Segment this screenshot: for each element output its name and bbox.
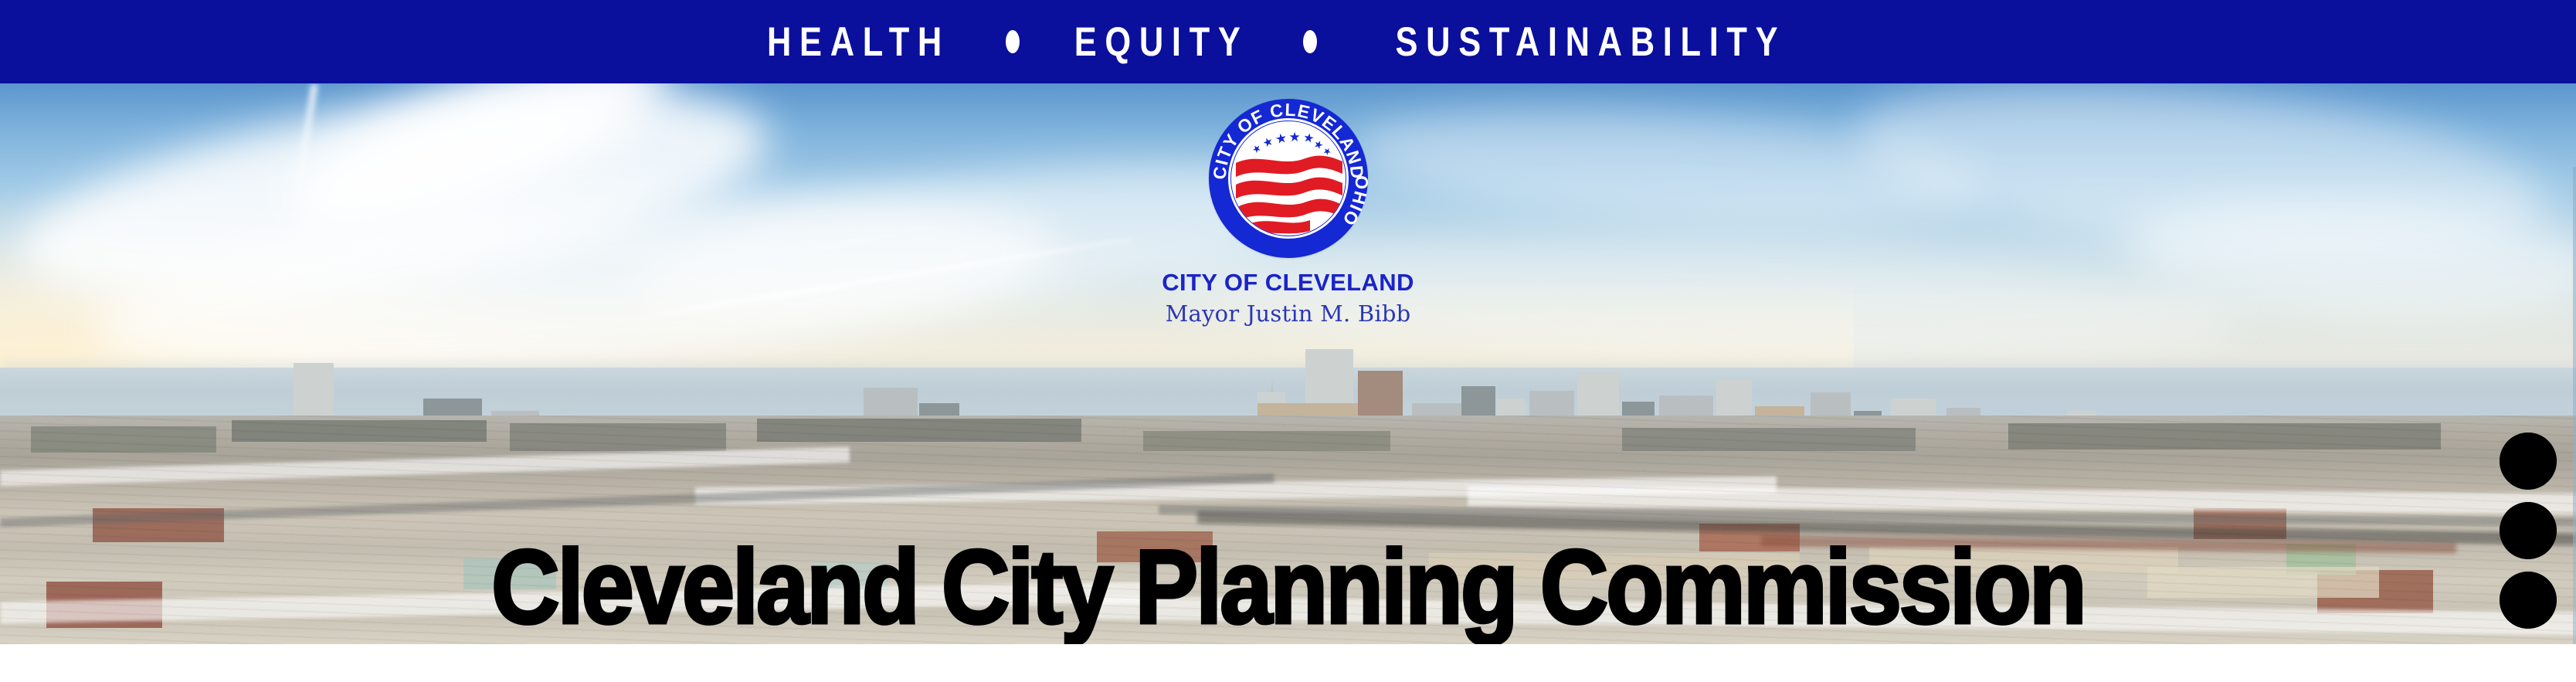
tagline-inner: HEALTH EQUITY SUSTAINABILITY [747,22,1829,63]
tagline-word-equity: EQUITY [1074,22,1249,63]
hero-right-edge [2573,167,2576,644]
svg-text:CITY OF CLEVELAND: CITY OF CLEVELAND [1209,100,1367,181]
tagline-bullet-dot-1 [1006,30,1020,53]
tagline-banner: HEALTH EQUITY SUSTAINABILITY [0,0,2576,83]
tagline-bullet-dot-2 [1303,30,1317,53]
svg-text:OHIO: OHIO [1338,175,1367,230]
youtube-icon [2500,433,2557,490]
page-title: Cleveland City Planning Commission [58,535,2518,640]
org-name: CITY OF CLEVELAND [1162,269,1414,297]
city-branding-block: ★ ★ ★ ★ ★ ★ ★ CITY OF CLEVELAND OHIO CIT… [0,99,2576,327]
city-of-cleveland-seal: ★ ★ ★ ★ ★ ★ ★ CITY OF CLEVELAND OHIO [1209,99,1368,258]
bottom-white-strip [0,644,2576,682]
social-links [2500,433,2557,629]
youtube-link[interactable] [2500,433,2557,490]
instagram-icon [2500,502,2557,559]
seal-ring-text: CITY OF CLEVELAND OHIO [1209,99,1368,258]
tagline-word-sustainability: SUSTAINABILITY [1396,22,1787,63]
instagram-link[interactable] [2500,502,2557,559]
mayor-name: Mayor Justin M. Bibb [1166,300,1411,327]
tagline-word-health: HEALTH [767,22,950,63]
facebook-icon [2500,572,2557,629]
hero-banner: ★ ★ ★ ★ ★ ★ ★ CITY OF CLEVELAND OHIO CIT… [0,83,2576,644]
facebook-link[interactable] [2500,572,2557,629]
